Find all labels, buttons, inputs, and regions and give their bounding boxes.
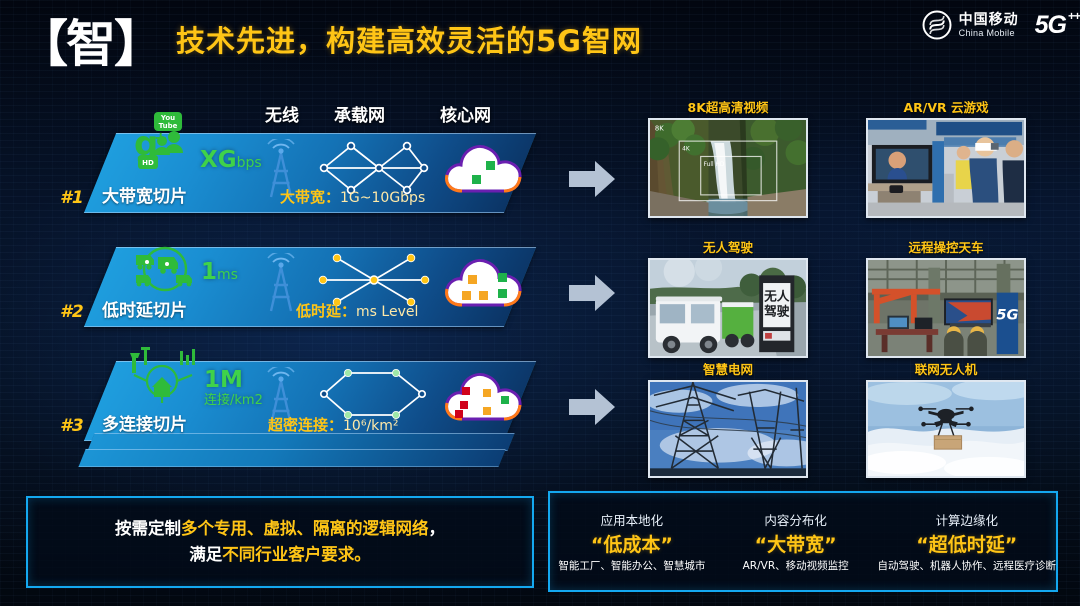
column-label-wireless: 无线 [265, 101, 299, 126]
svg-text:HD: HD [142, 159, 154, 167]
slice-number-1: #1 [60, 188, 84, 208]
benefit-mid-1: “低成本” [591, 530, 673, 557]
svg-text:无人: 无人 [763, 288, 790, 303]
column-label-core: 核心网 [440, 101, 491, 126]
slice-kpi-value-3: 1M [204, 367, 243, 393]
benefit-top-1: 应用本地化 [601, 510, 664, 529]
bandwidth-users-icon: You Tube g + HD [132, 111, 198, 173]
slice-kpi-1: XGbps [200, 149, 262, 172]
card-remote-crane[interactable]: 远程操控天车 [866, 258, 1026, 358]
svg-text:Full HD: Full HD [704, 162, 725, 168]
benefit-columns: 应用本地化 “低成本” 智能工厂、智能办公、智慧城市 内容分布化 “大带宽” A… [550, 493, 1056, 590]
benefit-top-2: 内容分布化 [764, 510, 827, 529]
card-photo-arvr [866, 118, 1026, 218]
brand-name-en: China Mobile [959, 29, 1019, 38]
card-title-8k-video: 8K超高清视频 [648, 97, 808, 116]
slice-metric-label-2: 低时延： [296, 302, 356, 320]
slice-metric-value-3: 10⁶/km² [343, 418, 399, 434]
column-label-bearer: 承载网 [334, 101, 385, 126]
summary-line-2-highlight: 不同行业客户要求。 [222, 545, 371, 564]
slice-metric-value-1: 1G~10Gbps [340, 190, 425, 206]
svg-text:You: You [160, 114, 175, 122]
slice-name-3: 多连接切片 [102, 410, 187, 435]
benefit-bottom-3: 自动驾驶、机器人协作、远程医疗诊断 [878, 558, 1057, 573]
benefit-bottom-1: 智能工厂、智能办公、智慧城市 [558, 558, 705, 573]
benefit-column-3[interactable]: 计算边缘化 “超低时延” 自动驾驶、机器人协作、远程医疗诊断 [878, 493, 1057, 590]
summary-line-1-highlight: 多个专用、虚拟、隔离的逻辑网络 [181, 519, 429, 538]
slice-metric-3: 超密连接：10⁶/km² [268, 414, 399, 435]
china-mobile-logo: 中国移动 China Mobile 5G++ [922, 10, 1066, 40]
fiveg-plus-logo: 5G++ [1035, 11, 1066, 40]
card-photo-smart-grid [648, 380, 808, 478]
card-title-arvr: AR/VR 云游戏 [866, 97, 1026, 116]
slice-kpi-unit-2: ms [217, 267, 238, 283]
slice-stack-ghost-2 [78, 449, 505, 467]
benefit-column-2[interactable]: 内容分布化 “大带宽” AR/VR、移动视频监控 [714, 493, 878, 590]
svg-text:驾驶: 驾驶 [764, 304, 790, 319]
card-autonomous-driving[interactable]: 无人驾驶 无人 [648, 258, 808, 358]
svg-text:5G: 5G [996, 308, 1018, 324]
china-mobile-wordmark: 中国移动 China Mobile [959, 13, 1019, 38]
card-smart-grid[interactable]: 智慧电网 [648, 380, 808, 478]
brand-name-cn: 中国移动 [959, 13, 1019, 27]
slice-metric-1: 大带宽：1G~10Gbps [280, 186, 425, 207]
summary-box-left: 按需定制多个专用、虚拟、隔离的逻辑网络， 满足不同行业客户要求。 [26, 496, 534, 588]
slice-kpi-value-2: 1 [201, 259, 217, 285]
card-photo-8k-video: 8K 4K Full HD [648, 118, 808, 218]
star-topology-icon-2 [315, 253, 433, 307]
slice-kpi-2: 1ms [201, 261, 238, 284]
benefit-top-3: 计算边缘化 [935, 510, 998, 529]
slice-name-2: 低时延切片 [102, 296, 187, 321]
page-title: 技术先进，构建高效灵活的5G智网 [176, 18, 642, 60]
slice-number-3: #3 [60, 416, 84, 436]
china-mobile-mark-icon [922, 10, 952, 40]
card-title-smart-grid: 智慧电网 [648, 359, 808, 378]
benefit-mid-2: “大带宽” [755, 530, 837, 557]
svg-text:8K: 8K [655, 125, 664, 133]
slice-metric-label-3: 超密连接： [268, 416, 343, 434]
summary-line-1-plain: 按需定制 [115, 519, 181, 538]
slice-number-2: #2 [60, 302, 84, 322]
svg-text:4K: 4K [682, 147, 690, 153]
slice-metric-label-1: 大带宽： [280, 188, 340, 206]
summary-line-2: 满足不同行业客户要求。 [189, 542, 371, 568]
card-photo-networked-drone [866, 380, 1026, 478]
iot-devices-icon [128, 347, 200, 403]
slice-metric-2: 低时延：ms Level [296, 300, 418, 321]
core-cloud-icon-1 [442, 137, 526, 199]
summary-line-2-plain: 满足 [189, 545, 222, 564]
slide-header: 【智】 技术先进，构建高效灵活的5G智网 中国移动 China Mobile 5… [0, 0, 1080, 86]
card-photo-autonomous-driving: 无人 驾驶 [648, 258, 808, 358]
card-title-networked-drone: 联网无人机 [866, 359, 1026, 378]
summary-box-right: 应用本地化 “低成本” 智能工厂、智能办公、智慧城市 内容分布化 “大带宽” A… [548, 491, 1058, 592]
slice-metric-value-2: ms Level [356, 304, 418, 320]
slide-canvas: 【智】 技术先进，构建高效灵活的5G智网 中国移动 China Mobile 5… [0, 0, 1080, 606]
summary-line-1: 按需定制多个专用、虚拟、隔离的逻辑网络， [115, 516, 445, 542]
core-cloud-icon-2 [442, 251, 526, 313]
card-networked-drone[interactable]: 联网无人机 [866, 380, 1026, 478]
benefit-bottom-2: AR/VR、移动视频监控 [743, 558, 849, 573]
flow-arrow-3-icon [567, 386, 617, 428]
vehicle-network-icon [130, 245, 200, 293]
card-8k-video[interactable]: 8K超高清视频 8K [648, 118, 808, 218]
fiveg-text: 5G [1035, 11, 1066, 39]
benefit-column-1[interactable]: 应用本地化 “低成本” 智能工厂、智能办公、智慧城市 [550, 493, 714, 590]
flow-arrow-1-icon [567, 158, 617, 200]
slice-name-1: 大带宽切片 [102, 182, 187, 207]
benefit-mid-3: “超低时延” [916, 530, 1017, 557]
slice-kpi-unit-3: 连接/km2 [204, 394, 263, 407]
slice-kpi-3: 1M 连接/km2 [204, 369, 263, 407]
core-cloud-icon-3 [442, 365, 526, 427]
slice-kpi-value-1: XG [200, 147, 237, 173]
card-title-autonomous-driving: 无人驾驶 [648, 237, 808, 256]
flow-arrow-2-icon [567, 272, 617, 314]
zhi-badge: 【智】 [14, 8, 166, 80]
fiveg-sup: ++ [1068, 9, 1080, 23]
card-photo-remote-crane: 5G [866, 258, 1026, 358]
card-title-remote-crane: 远程操控天车 [866, 237, 1026, 256]
summary-line-1-tail: ， [429, 519, 446, 538]
ring-topology-icon-3 [318, 367, 430, 421]
card-arvr-cloud-game[interactable]: AR/VR 云游戏 [866, 118, 1026, 218]
